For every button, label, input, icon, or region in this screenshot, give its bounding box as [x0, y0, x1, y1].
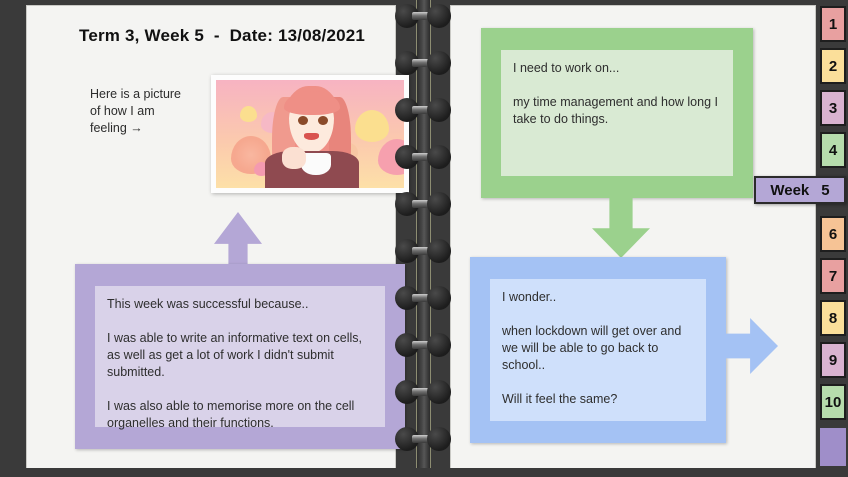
- week-tab-label: 9: [829, 352, 837, 369]
- work-on-note-text: I need to work on... my time management …: [513, 60, 721, 128]
- wonder-note-panel: I wonder.. when lockdown will get over a…: [490, 279, 706, 421]
- arrow-up-icon: [214, 212, 262, 270]
- hand: [282, 147, 306, 169]
- week-tab-label: 1: [829, 16, 837, 33]
- week-indicator-tab[interactable]: Week 5: [754, 176, 846, 204]
- week-indicator-number: 5: [821, 182, 829, 199]
- spiral-ring: [394, 237, 452, 265]
- week-tab-label: 2: [829, 58, 837, 75]
- flower-icon: [355, 110, 389, 142]
- canvas-bottom-edge: [0, 468, 848, 477]
- success-note[interactable]: This week was successful because.. I was…: [75, 264, 405, 449]
- page-title: Term 3, Week 5 - Date: 13/08/2021: [79, 26, 365, 46]
- week-tab-6[interactable]: 6: [820, 216, 846, 252]
- week-tab-label: 7: [829, 268, 837, 285]
- arrow-down-icon: [592, 196, 650, 258]
- success-note-text: This week was successful because.. I was…: [107, 296, 373, 432]
- spiral-ring: [394, 284, 452, 312]
- week-tab-4[interactable]: 4: [820, 132, 846, 168]
- week-tab-strip: 12345678910: [818, 0, 848, 477]
- work-on-note-panel: I need to work on... my time management …: [501, 50, 733, 176]
- spiral-ring: [394, 331, 452, 359]
- spiral-knob-right: [427, 333, 451, 357]
- spiral-ring: [394, 96, 452, 124]
- spiral-knob-right: [427, 286, 451, 310]
- wonder-note-text: I wonder.. when lockdown will get over a…: [502, 289, 694, 408]
- notebook-page-left: Term 3, Week 5 - Date: 13/08/2021 Here i…: [27, 6, 395, 468]
- spiral-ring: [394, 49, 452, 77]
- eye-right: [318, 116, 328, 126]
- photo-caption: Here is a picture of how I am feeling →: [90, 86, 220, 137]
- week-tab-label: 6: [829, 226, 837, 243]
- week-tab-3[interactable]: 3: [820, 90, 846, 126]
- spiral-knob-right: [427, 239, 451, 263]
- spiral-knob-right: [427, 380, 451, 404]
- notebook-page-right: I need to work on... my time management …: [451, 6, 815, 468]
- notebook-canvas: Term 3, Week 5 - Date: 13/08/2021 Here i…: [0, 0, 848, 477]
- spiral-knob-right: [427, 427, 451, 451]
- week-tab-2[interactable]: 2: [820, 48, 846, 84]
- spiral-knob-right: [427, 98, 451, 122]
- week-tab-blank[interactable]: [820, 428, 846, 466]
- week-tab-label: 8: [829, 310, 837, 327]
- photo-frame[interactable]: [211, 75, 409, 193]
- spiral-binding: [394, 0, 452, 477]
- feeling-photo: [216, 80, 404, 188]
- spiral-ring: [394, 143, 452, 171]
- week-tab-label: 3: [829, 100, 837, 117]
- spiral-knob-right: [427, 51, 451, 75]
- week-tab-7[interactable]: 7: [820, 258, 846, 294]
- spiral-ring: [394, 190, 452, 218]
- week-tab-9[interactable]: 9: [820, 342, 846, 378]
- week-tab-label: 4: [829, 142, 837, 159]
- week-tab-10[interactable]: 10: [820, 384, 846, 420]
- spiral-ring: [394, 2, 452, 30]
- success-note-panel: This week was successful because.. I was…: [95, 286, 385, 427]
- spiral-knob-right: [427, 4, 451, 28]
- week-tab-label: 10: [825, 394, 842, 411]
- week-tab-8[interactable]: 8: [820, 300, 846, 336]
- spiral-ring: [394, 378, 452, 406]
- week-tab-1[interactable]: 1: [820, 6, 846, 42]
- week-indicator-label: Week: [770, 182, 809, 199]
- spiral-ring: [394, 425, 452, 453]
- wonder-note[interactable]: I wonder.. when lockdown will get over a…: [470, 257, 726, 443]
- work-on-note[interactable]: I need to work on... my time management …: [481, 28, 753, 198]
- spiral-knob-right: [427, 145, 451, 169]
- flower-icon: [240, 106, 257, 122]
- spiral-knob-right: [427, 192, 451, 216]
